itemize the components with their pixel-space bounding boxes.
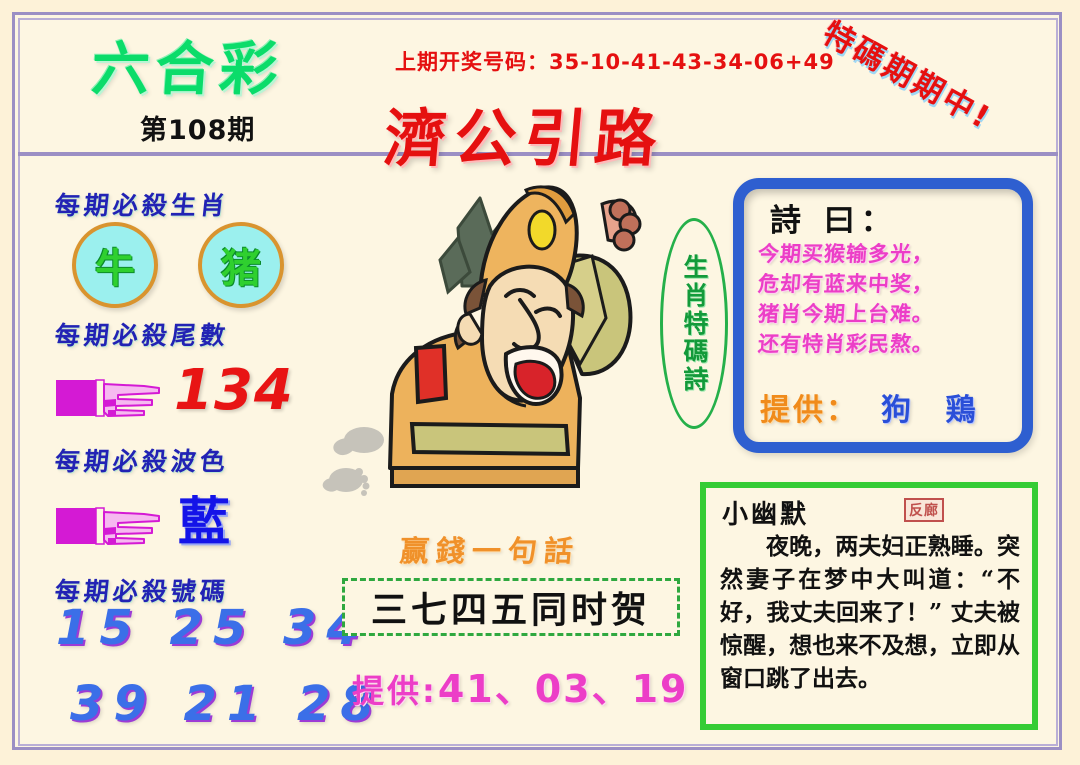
jigong-monk-illustration — [330, 168, 675, 508]
issue-number: 第108期 — [140, 108, 255, 147]
pointing-hand-icon — [56, 502, 164, 548]
center-supply-row: 提供:41、03、19 — [352, 658, 688, 713]
label-kill-zodiac: 每期必殺生肖 — [53, 186, 231, 222]
zodiac-badge-pig: 猪 — [198, 222, 284, 308]
poem-line-4: 还有特肖彩民熬。 — [757, 329, 1021, 359]
tail-value: 134 — [174, 358, 294, 423]
color-value: 藍 — [178, 480, 232, 555]
page-title: 濟公引路 — [381, 88, 669, 178]
center-supply-numbers: 41、03、19 — [438, 667, 689, 711]
poem-supply-row: 提供： 狗 鶏 — [760, 385, 1030, 429]
poem-panel: 詩 曰： 今期买猴输多光， 危却有蓝来中奖， 猪肖今期上台难。 还有特肖彩民熬。… — [733, 178, 1033, 453]
poem-lines: 今期买猴输多光， 危却有蓝来中奖， 猪肖今期上台难。 还有特肖彩民熬。 — [758, 239, 1020, 359]
kill-numbers-row-2: 39 21 28 — [70, 676, 384, 732]
previous-draw-numbers: 上期开奖号码：35-10-41-43-34-06+49 — [395, 46, 835, 76]
zodiac-poem-oval-label: 生肖特碼詩 — [660, 218, 728, 429]
joke-panel: 小幽默 反廊 夜晚，两夫妇正熟睡。突然妻子在梦中大叫道：“不好，我丈夫回来了！”… — [700, 482, 1038, 730]
label-kill-tail: 每期必殺尾數 — [53, 316, 231, 352]
poem-supply-zodiac: 狗 鶏 — [881, 385, 987, 429]
pointing-hand-icon — [56, 374, 164, 420]
joke-stamp-badge: 反廊 — [904, 498, 944, 522]
poem-supply-label: 提供： — [760, 385, 859, 429]
joke-body-text: 夜晚，两夫妇正熟睡。突然妻子在梦中大叫道：“不好，我丈夫回来了！” 丈夫被惊醒，… — [720, 530, 1020, 695]
joke-title: 小幽默 — [722, 494, 809, 531]
label-kill-color: 每期必殺波色 — [53, 442, 231, 478]
zodiac-badge-ox: 牛 — [72, 222, 158, 308]
poem-line-1: 今期买猴输多光， — [757, 239, 1021, 269]
site-logo: 六合彩 — [89, 22, 287, 106]
oval-label-text: 生肖特碼詩 — [676, 254, 712, 394]
poem-line-2: 危却有蓝来中奖， — [757, 269, 1021, 299]
slogan-main-box: 三七四五同时贺 — [342, 578, 680, 636]
poem-heading: 詩 曰： — [770, 195, 898, 240]
zodiac-group: 牛 猪 — [72, 222, 302, 306]
slogan-main-text: 三七四五同时贺 — [371, 581, 651, 633]
center-supply-label: 提供: — [352, 672, 438, 710]
slogan-subtitle: 赢錢一句話 — [398, 528, 582, 570]
poem-line-3: 猪肖今期上台难。 — [757, 299, 1021, 329]
kill-numbers-row-1: 15 25 34 — [56, 600, 370, 656]
lottery-poster: 六合彩 第108期 上期开奖号码：35-10-41-43-34-06+49 濟公… — [0, 0, 1080, 765]
